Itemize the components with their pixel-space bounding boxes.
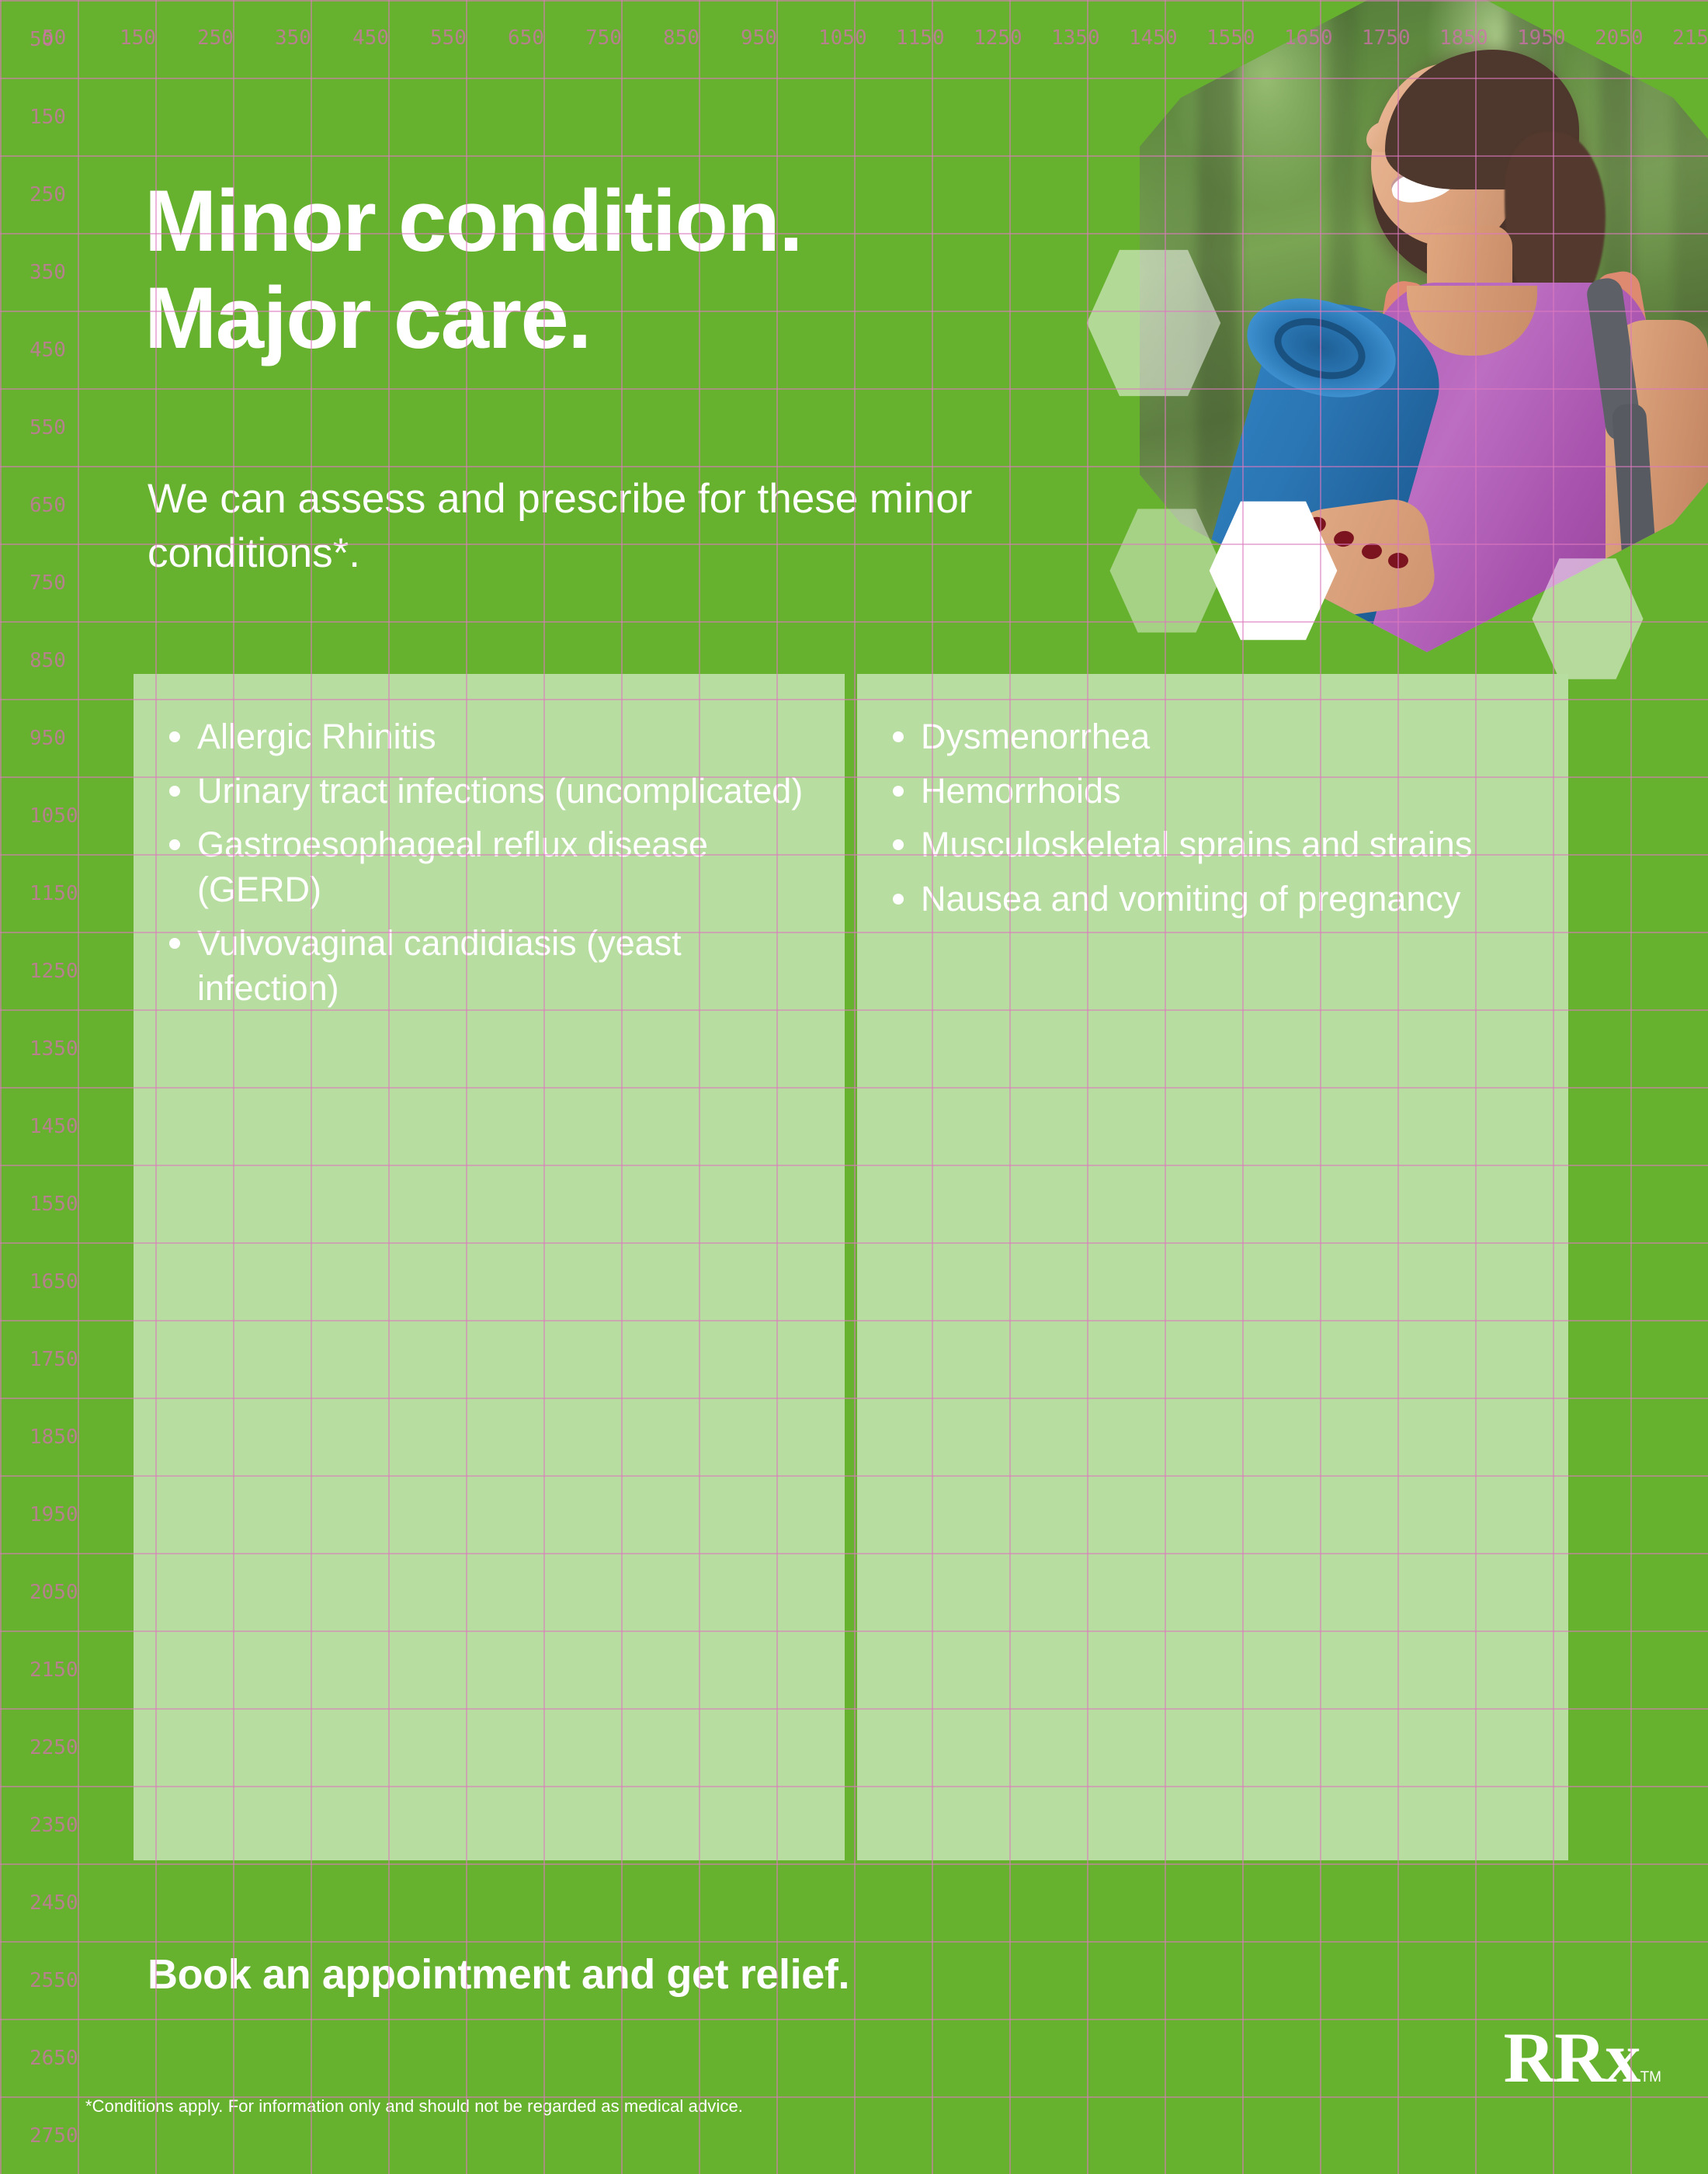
grid-label-x: 150 [120,28,156,48]
list-item: Allergic Rhinitis [165,714,814,759]
list-item: Urinary tract infections (uncomplicated) [165,769,814,814]
grid-label-y: 1650 [30,1272,78,1292]
grid-label-y: 1250 [30,961,78,981]
grid-label-y: 1050 [30,806,78,826]
grid-label-y: 150 [30,107,66,127]
conditions-panel-right: Dysmenorrhea Hemorrhoids Musculoskeletal… [857,674,1568,1860]
page-title: Minor condition. Major care. [144,172,802,367]
grid-label-y: 2350 [30,1815,78,1835]
page-subtitle: We can assess and prescribe for these mi… [148,472,1064,581]
grid-label-y: 1150 [30,884,78,904]
trademark-mark: TM [1640,2069,1661,2085]
list-item: Musculoskeletal sprains and strains [888,822,1537,867]
call-to-action-text: Book an appointment and get relief. [148,1950,849,1999]
grid-label-x: 250 [197,28,234,48]
grid-label-x: 2150 [1672,28,1708,48]
grid-label-y: 2450 [30,1893,78,1913]
grid-label-y: 2150 [30,1660,78,1680]
grid-label-x: 750 [585,28,622,48]
grid-label-y: 650 [30,495,66,516]
grid-label-y: 2550 [30,1971,78,1991]
grid-label-y: 850 [30,651,66,671]
list-item: Gastroesophageal reflux disease (GERD) [165,822,814,912]
grid-label-y: 1850 [30,1427,78,1447]
grid-label-x: 450 [352,28,389,48]
grid-label-y: 550 [30,418,66,438]
grid-label-x: 550 [430,28,467,48]
poster-root: Minor condition. Major care. We can asse… [0,0,1708,2174]
grid-label-x: 1450 [1129,28,1178,48]
list-item: Hemorrhoids [888,769,1537,814]
grid-label-x: 350 [275,28,311,48]
grid-label-y: 2050 [30,1582,78,1603]
logo-wordmark: RRx [1504,2018,1640,2097]
conditions-list-left: Allergic Rhinitis Urinary tract infectio… [165,714,814,1011]
grid-label-y: 1550 [30,1194,78,1214]
grid-label-y: 950 [30,728,66,748]
list-item: Nausea and vomiting of pregnancy [888,877,1537,922]
grid-label-y: 1350 [30,1039,78,1059]
grid-label-y: 2250 [30,1738,78,1758]
grid-label-y: 1750 [30,1349,78,1370]
grid-label-y: 2650 [30,2048,78,2068]
disclaimer-text: *Conditions apply. For information only … [85,2096,743,2117]
grid-label-y: 750 [30,573,66,593]
grid-label-y: 350 [30,262,66,283]
grid-label-y: 1950 [30,1505,78,1525]
grid-label-x: 1250 [974,28,1022,48]
grid-label-x: 1050 [818,28,867,48]
conditions-panel-left: Allergic Rhinitis Urinary tract infectio… [134,674,845,1860]
list-item: Dysmenorrhea [888,714,1537,759]
grid-label-x: 850 [663,28,700,48]
grid-label-y: 2750 [30,2126,78,2146]
grid-label-x: 950 [741,28,777,48]
conditions-list-right: Dysmenorrhea Hemorrhoids Musculoskeletal… [888,714,1537,921]
grid-label-y: 1450 [30,1117,78,1137]
grid-label-x: 50 [42,28,66,48]
grid-label-y: 50 [30,30,54,50]
grid-label-x: 1150 [896,28,945,48]
grid-label-y: 450 [30,340,66,360]
grid-label-x: 1350 [1051,28,1100,48]
grid-label-y: 250 [30,185,66,205]
conditions-panels: Allergic Rhinitis Urinary tract infectio… [134,674,1568,1860]
grid-label-x: 650 [508,28,544,48]
rrx-logo: RRxTM [1504,2022,1661,2093]
list-item: Vulvovaginal candidiasis (yeast infectio… [165,921,814,1010]
